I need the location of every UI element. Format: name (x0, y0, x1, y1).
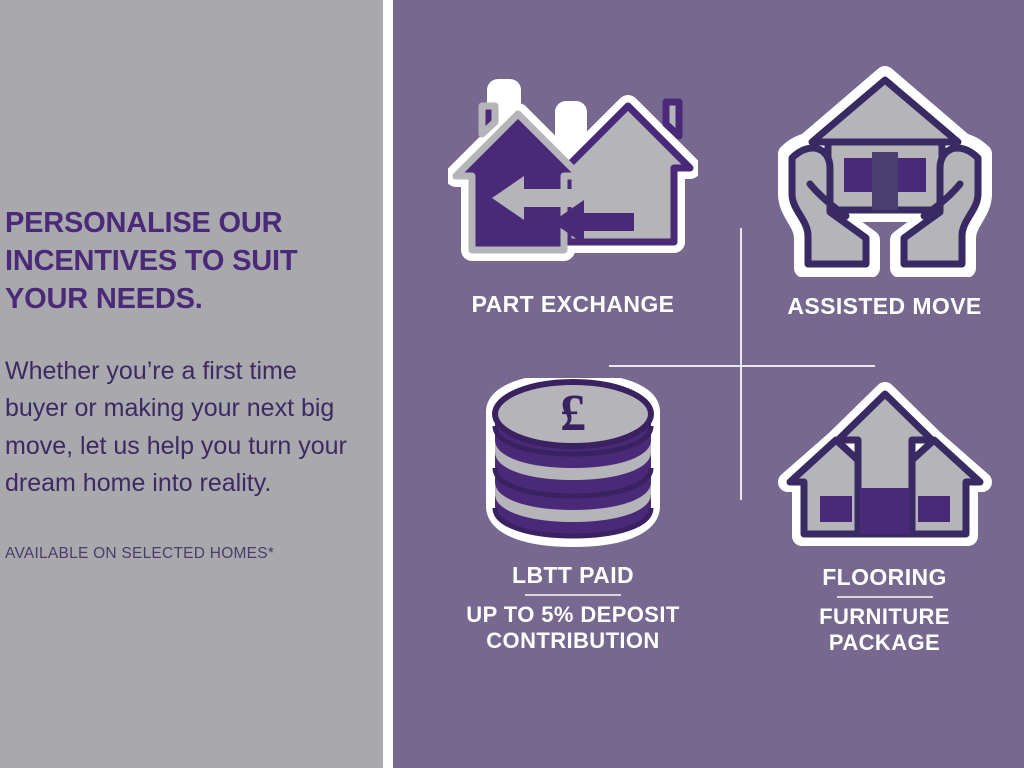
svg-text:£: £ (560, 385, 586, 442)
divider-vertical (740, 228, 742, 500)
page-title: PERSONALISE OUR INCENTIVES TO SUIT YOUR … (5, 205, 349, 318)
incentive-sublabel: FURNITURE PACKAGE (765, 604, 1005, 656)
incentive-label: ASSISTED MOVE (787, 293, 981, 320)
incentive-label: PART EXCHANGE (472, 291, 675, 318)
incentive-flooring-furniture[interactable]: FLOORING FURNITURE PACKAGE (745, 378, 1024, 656)
house-in-hands-icon (774, 62, 996, 277)
incentive-lbtt-paid[interactable]: £ LBTT PAID UP TO 5% DEPOSIT CONTRIBUTIO… (415, 378, 731, 654)
label-rule (837, 596, 933, 598)
incentive-label: FLOORING (822, 564, 947, 591)
pound-coin-stack-icon: £ (473, 378, 673, 548)
incentive-part-exchange[interactable]: PART EXCHANGE (413, 72, 733, 318)
three-houses-arrow-icon (774, 378, 996, 550)
two-houses-exchange-arrows-icon (448, 72, 698, 277)
incentive-sublabel: UP TO 5% DEPOSIT CONTRIBUTION (423, 602, 723, 654)
body-copy: Whether you’re a first time buyer or mak… (5, 353, 349, 503)
incentives-panel: PART EXCHANGE (393, 0, 1024, 768)
incentives-banner: PERSONALISE OUR INCENTIVES TO SUIT YOUR … (0, 0, 1024, 768)
incentive-label: LBTT PAID (512, 562, 634, 589)
disclaimer-text: AVAILABLE ON SELECTED HOMES* (5, 545, 349, 563)
left-text-panel: PERSONALISE OUR INCENTIVES TO SUIT YOUR … (0, 0, 383, 768)
incentive-assisted-move[interactable]: ASSISTED MOVE (745, 62, 1024, 320)
divider-horizontal (609, 365, 875, 367)
label-rule (525, 594, 621, 596)
